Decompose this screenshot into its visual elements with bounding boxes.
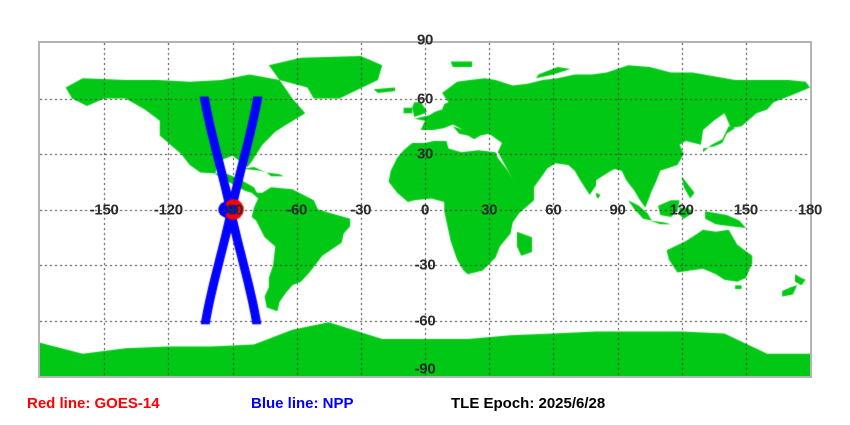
satellite-ground-track-view: -300306090120150180-150-120-90-609060300…	[0, 0, 850, 425]
legend-red-line-goes14: Red line: GOES-14	[27, 394, 160, 414]
legend: Red line: GOES-14 Blue line: NPP TLE Epo…	[0, 394, 850, 420]
lat-tick-neg90: -90	[415, 362, 436, 377]
lat-tick-90: 90	[417, 33, 433, 48]
lon-tick-neg30: -30	[350, 202, 371, 217]
lon-tick-neg150: -150	[90, 202, 119, 217]
lon-tick-60: 60	[545, 202, 561, 217]
legend-blue-line-npp: Blue line: NPP	[251, 394, 354, 414]
lon-tick-30: 30	[481, 202, 497, 217]
lon-tick-neg60: -60	[286, 202, 307, 217]
lon-tick-neg90: -90	[222, 202, 243, 217]
lon-tick-150: 150	[734, 202, 758, 217]
lat-tick-30: 30	[417, 147, 433, 162]
lat-tick-60: 60	[417, 91, 433, 106]
lat-tick-neg60: -60	[415, 313, 436, 328]
lon-tick-90: 90	[609, 202, 625, 217]
lat-tick-neg30: -30	[415, 258, 436, 273]
lon-tick-neg120: -120	[154, 202, 183, 217]
lon-tick-180: 180	[798, 202, 822, 217]
lat-tick-0: 0	[421, 202, 429, 217]
lon-tick-120: 120	[670, 202, 694, 217]
legend-tle-epoch: TLE Epoch: 2025/6/28	[451, 394, 605, 414]
